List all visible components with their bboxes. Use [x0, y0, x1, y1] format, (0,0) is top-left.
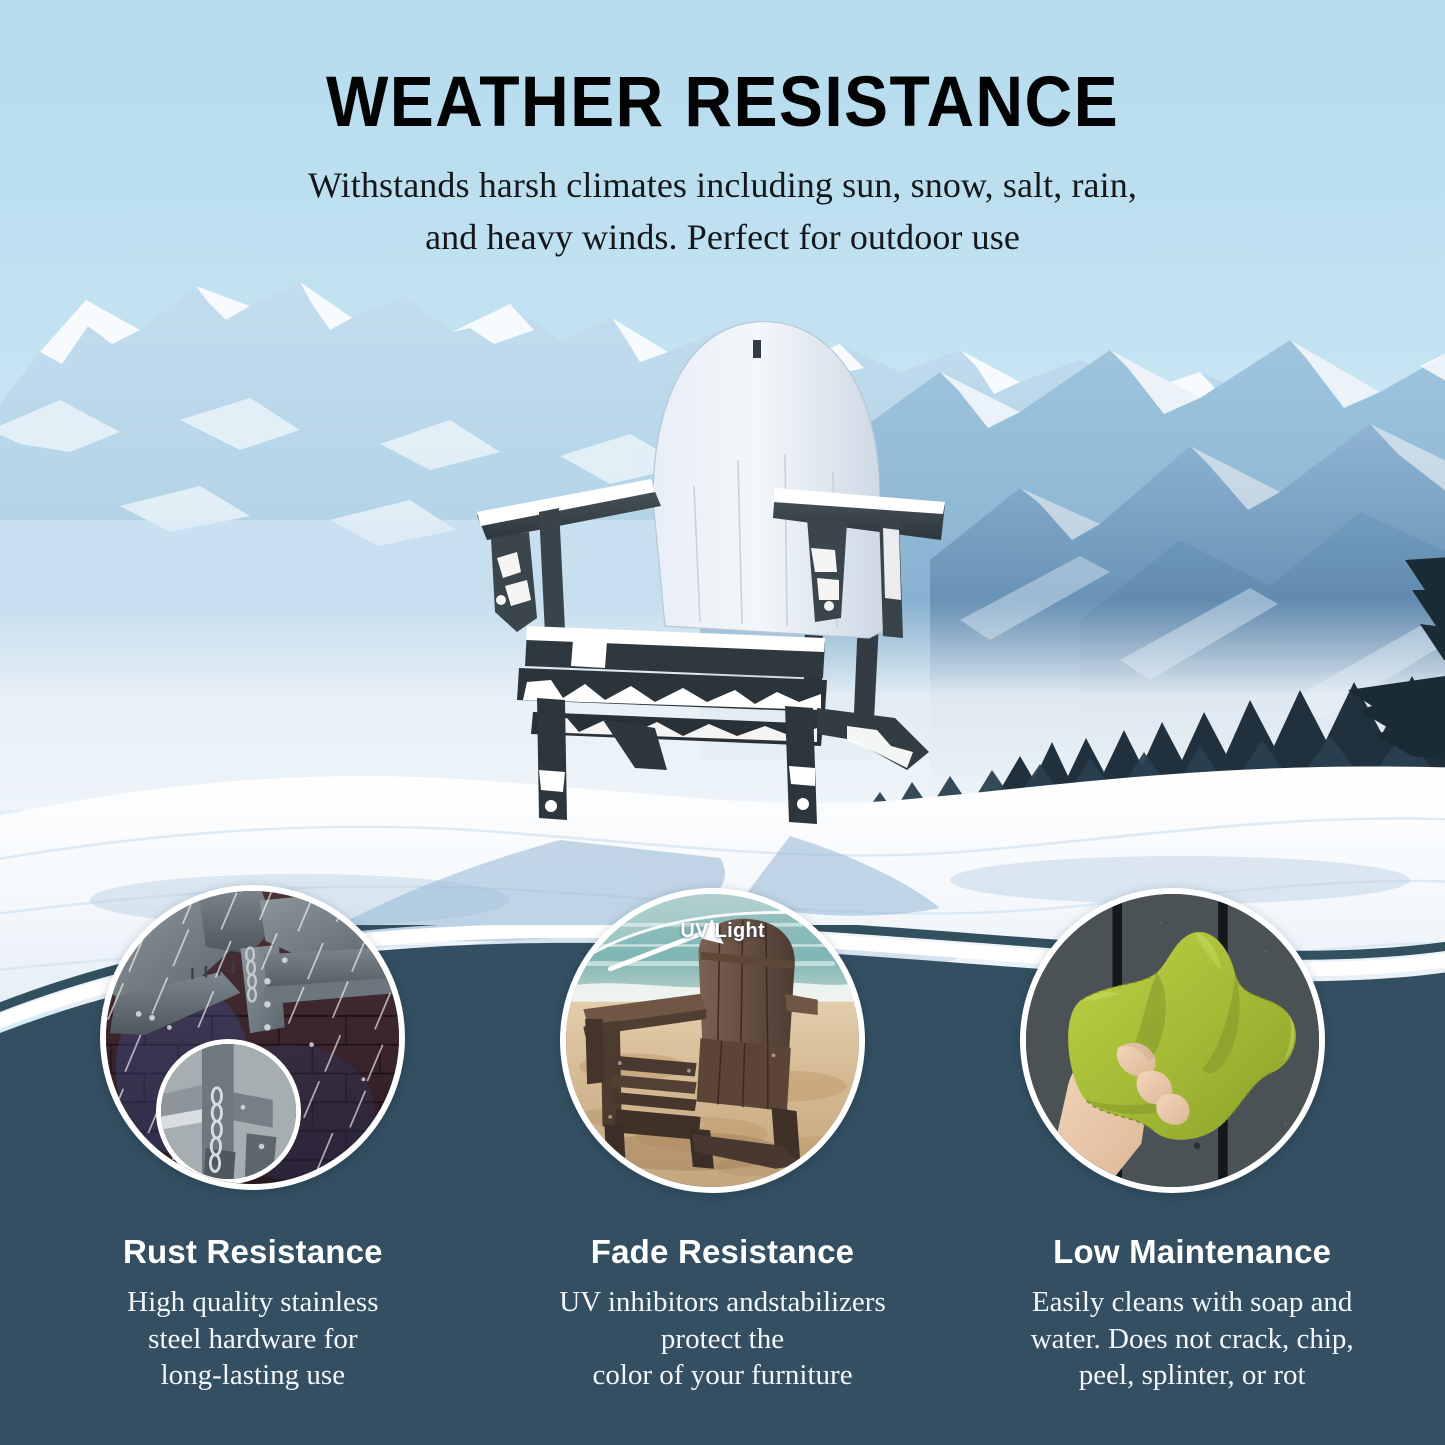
feature-title: Rust Resistance: [18, 1233, 488, 1271]
feature-fade-resistance: Fade Resistance UV inhibitors andstabili…: [488, 1215, 958, 1445]
hardware-detail-inset: [156, 1039, 301, 1184]
circle-image-fade-resistance: UV Light: [560, 888, 865, 1193]
circle-image-rust-resistance: [100, 885, 405, 1190]
hero-snow-chair-image: [455, 300, 965, 845]
feature-low-maintenance: Low Maintenance Easily cleans with soap …: [957, 1215, 1427, 1445]
feature-body: Easily cleans with soap and water. Does …: [957, 1284, 1427, 1394]
header: WEATHER RESISTANCE Withstands harsh clim…: [0, 66, 1445, 264]
feature-title: Low Maintenance: [957, 1233, 1427, 1271]
subtitle-line-1: Withstands harsh climates including sun,…: [0, 160, 1445, 212]
feature-title: Fade Resistance: [488, 1233, 958, 1271]
feature-body: UV inhibitors andstabilizers protect the…: [488, 1284, 958, 1394]
subtitle-line-2: and heavy winds. Perfect for outdoor use: [0, 212, 1445, 264]
weather-resistance-poster: WEATHER RESISTANCE Withstands harsh clim…: [0, 0, 1445, 1445]
low-maintenance-photo: [1026, 894, 1319, 1187]
circle-image-low-maintenance: [1020, 888, 1325, 1193]
uv-light-label: UV Light: [680, 920, 765, 943]
feature-rust-resistance: Rust Resistance High quality stainless s…: [18, 1215, 488, 1445]
page-title: WEATHER RESISTANCE: [51, 66, 1395, 139]
feature-body: High quality stainless steel hardware fo…: [18, 1284, 488, 1394]
page-subtitle: Withstands harsh climates including sun,…: [0, 160, 1445, 264]
feature-columns: Rust Resistance High quality stainless s…: [0, 1215, 1445, 1445]
